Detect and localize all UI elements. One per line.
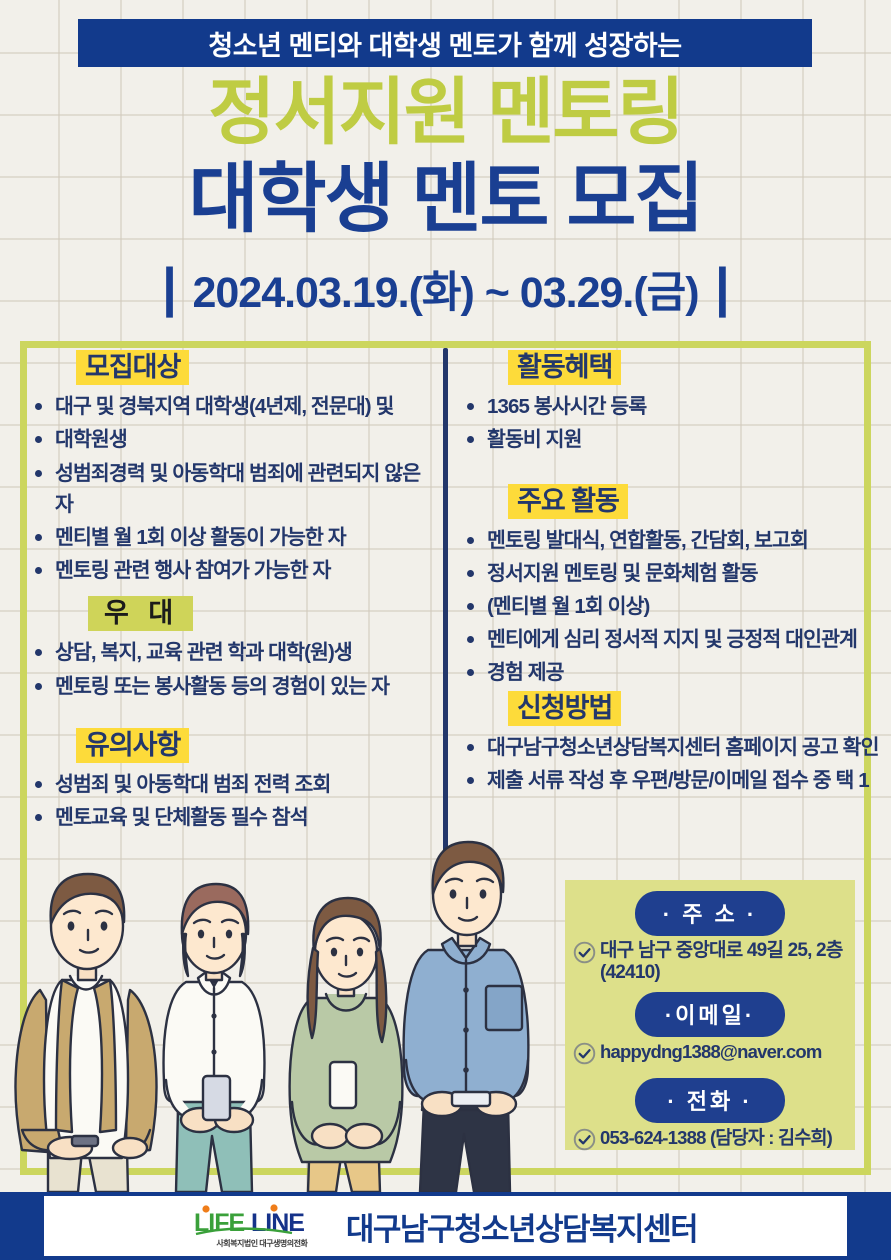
header-banner-text: 청소년 멘티와 대학생 멘토가 함께 성장하는 (208, 24, 681, 63)
check-circle-icon (573, 941, 596, 969)
left-column: 모집대상 대구 및 경북지역 대학생(4년제, 전문대) 및 대학원생 성범죄경… (28, 350, 438, 835)
list-item: 대구 및 경북지역 대학생(4년제, 전문대) 및 (28, 391, 438, 422)
list-item: 정서지원 멘토링 및 문화체험 활동 (460, 558, 880, 589)
section-header-row-benefits: 활동혜택 (460, 350, 880, 385)
list-item: 멘토링 관련 행사 참여가 가능한 자 (28, 555, 438, 586)
lifeline-logo-mark: LIFE LINE (194, 1203, 330, 1237)
list-item: 멘티에게 심리 정서적 지지 및 긍정적 대인관계 (460, 624, 880, 655)
address-value: 대구 남구 중앙대로 49길 25, 2층 (42410) (600, 940, 843, 985)
email-value[interactable]: happydng1388@naver.com (600, 1041, 822, 1063)
check-circle-icon (573, 1128, 596, 1156)
list-item-continuation-text: 대학원생 (55, 424, 438, 455)
poster-title-line-1: 정서지원 멘토링 (0, 76, 891, 149)
list-item: 대구남구청소년상담복지센터 홈페이지 공고 확인 (460, 732, 880, 763)
section-heading-notes: 유의사항 (76, 728, 189, 763)
contact-info-box: · 주 소 · 대구 남구 중앙대로 49길 25, 2층 (42410) ·이… (565, 880, 855, 1150)
section-heading-activities: 주요 활동 (508, 484, 628, 519)
list-how-to-apply: 대구남구청소년상담복지센터 홈페이지 공고 확인 제출 서류 작성 후 우편/방… (460, 732, 880, 796)
lifeline-logo-subtitle: 사회복지법인 대구생명의전화 (216, 1238, 307, 1249)
person-2 (164, 884, 265, 1192)
section-header-row-recruit-target: 모집대상 (28, 350, 438, 385)
section-header-row-activities: 주요 활동 (460, 484, 880, 519)
check-circle-icon (573, 1042, 596, 1070)
right-column: 활동혜택 1365 봉사시간 등록 활동비 지원 주요 활동 멘토링 발대식, … (460, 350, 880, 798)
list-item: 성범죄경력 및 아동학대 범죄에 관련되지 않은 자 (28, 458, 438, 520)
phone-label-pill: · 전화 · (635, 1078, 785, 1123)
list-item: 멘토링 또는 봉사활동 등의 경험이 있는 자 (28, 671, 438, 702)
address-label-pill: · 주 소 · (635, 891, 785, 936)
list-item: 성범죄 및 아동학대 범죄 전력 조회 (28, 769, 438, 800)
section-header-row-notes: 유의사항 (28, 728, 438, 763)
person-4 (404, 842, 529, 1192)
list-item-continuation: 대학원생 (28, 424, 438, 455)
section-header-row-preference: 우 대 (28, 596, 438, 631)
column-divider (443, 348, 448, 858)
list-item-continuation: (멘티별 월 1회 이상) (460, 591, 880, 622)
list-item-continuation-text: 경험 제공 (487, 657, 880, 688)
list-item: 멘토교육 및 단체활동 필수 참석 (28, 802, 438, 833)
address-line-2: (42410) (600, 962, 660, 983)
address-row: 대구 남구 중앙대로 49길 25, 2층 (42410) (565, 936, 855, 985)
list-item: 활동비 지원 (460, 424, 880, 455)
poster-title-line-2: 대학생 멘토 모집 (0, 162, 891, 238)
address-line-1: 대구 남구 중앙대로 49길 25, 2층 (600, 940, 843, 961)
email-row[interactable]: happydng1388@naver.com (565, 1037, 855, 1070)
list-item: 1365 봉사시간 등록 (460, 391, 880, 422)
list-notes: 성범죄 및 아동학대 범죄 전력 조회 멘토교육 및 단체활동 필수 참석 (28, 769, 438, 833)
person-3 (290, 898, 403, 1192)
list-item: 상담, 복지, 교육 관련 학과 대학(원)생 (28, 637, 438, 668)
list-preference: 상담, 복지, 교육 관련 학과 대학(원)생 멘토링 또는 봉사활동 등의 경… (28, 637, 438, 701)
person-1 (15, 874, 156, 1192)
list-item-continuation: 경험 제공 (460, 657, 880, 688)
section-heading-benefits: 활동혜택 (508, 350, 621, 385)
list-activities: 멘토링 발대식, 연합활동, 간담회, 보고회 정서지원 멘토링 및 문화체험 … (460, 525, 880, 689)
recruitment-date-range: ┃ 2024.03.19.(화) ~ 03.29.(금) ┃ (0, 272, 891, 315)
section-heading-recruit-target: 모집대상 (76, 350, 189, 385)
list-item-continuation-text: (멘티별 월 1회 이상) (487, 591, 880, 622)
poster-root: 청소년 멘티와 대학생 멘토가 함께 성장하는 정서지원 멘토링 대학생 멘토 … (0, 0, 891, 1260)
list-recruit-target: 대구 및 경북지역 대학생(4년제, 전문대) 및 대학원생 성범죄경력 및 아… (28, 391, 438, 586)
list-item: 멘티별 월 1회 이상 활동이 가능한 자 (28, 522, 438, 553)
phone-row[interactable]: 053-624-1388 (담당자 : 김수희) (565, 1123, 855, 1156)
header-banner: 청소년 멘티와 대학생 멘토가 함께 성장하는 (78, 19, 812, 67)
lifeline-logo: LIFE LINE 사회복지법인 대구생명의전화 (194, 1203, 330, 1249)
list-item: 제출 서류 작성 후 우편/방문/이메일 접수 중 택 1 (460, 765, 880, 796)
section-heading-preference: 우 대 (88, 596, 193, 631)
section-header-row-how-to-apply: 신청방법 (460, 691, 880, 726)
svg-text:LINE: LINE (251, 1209, 304, 1237)
organization-name: 대구남구청소년상담복지센터 (346, 1204, 697, 1249)
people-illustration (0, 830, 580, 1192)
list-item: 멘토링 발대식, 연합활동, 간담회, 보고회 (460, 525, 880, 556)
footer-content: LIFE LINE 사회복지법인 대구생명의전화 대구남구청소년상담복지센터 (44, 1196, 847, 1256)
list-benefits: 1365 봉사시간 등록 활동비 지원 (460, 391, 880, 455)
section-heading-how-to-apply: 신청방법 (508, 691, 621, 726)
email-label-pill: ·이메일· (635, 992, 785, 1037)
phone-value[interactable]: 053-624-1388 (담당자 : 김수희) (600, 1127, 832, 1149)
